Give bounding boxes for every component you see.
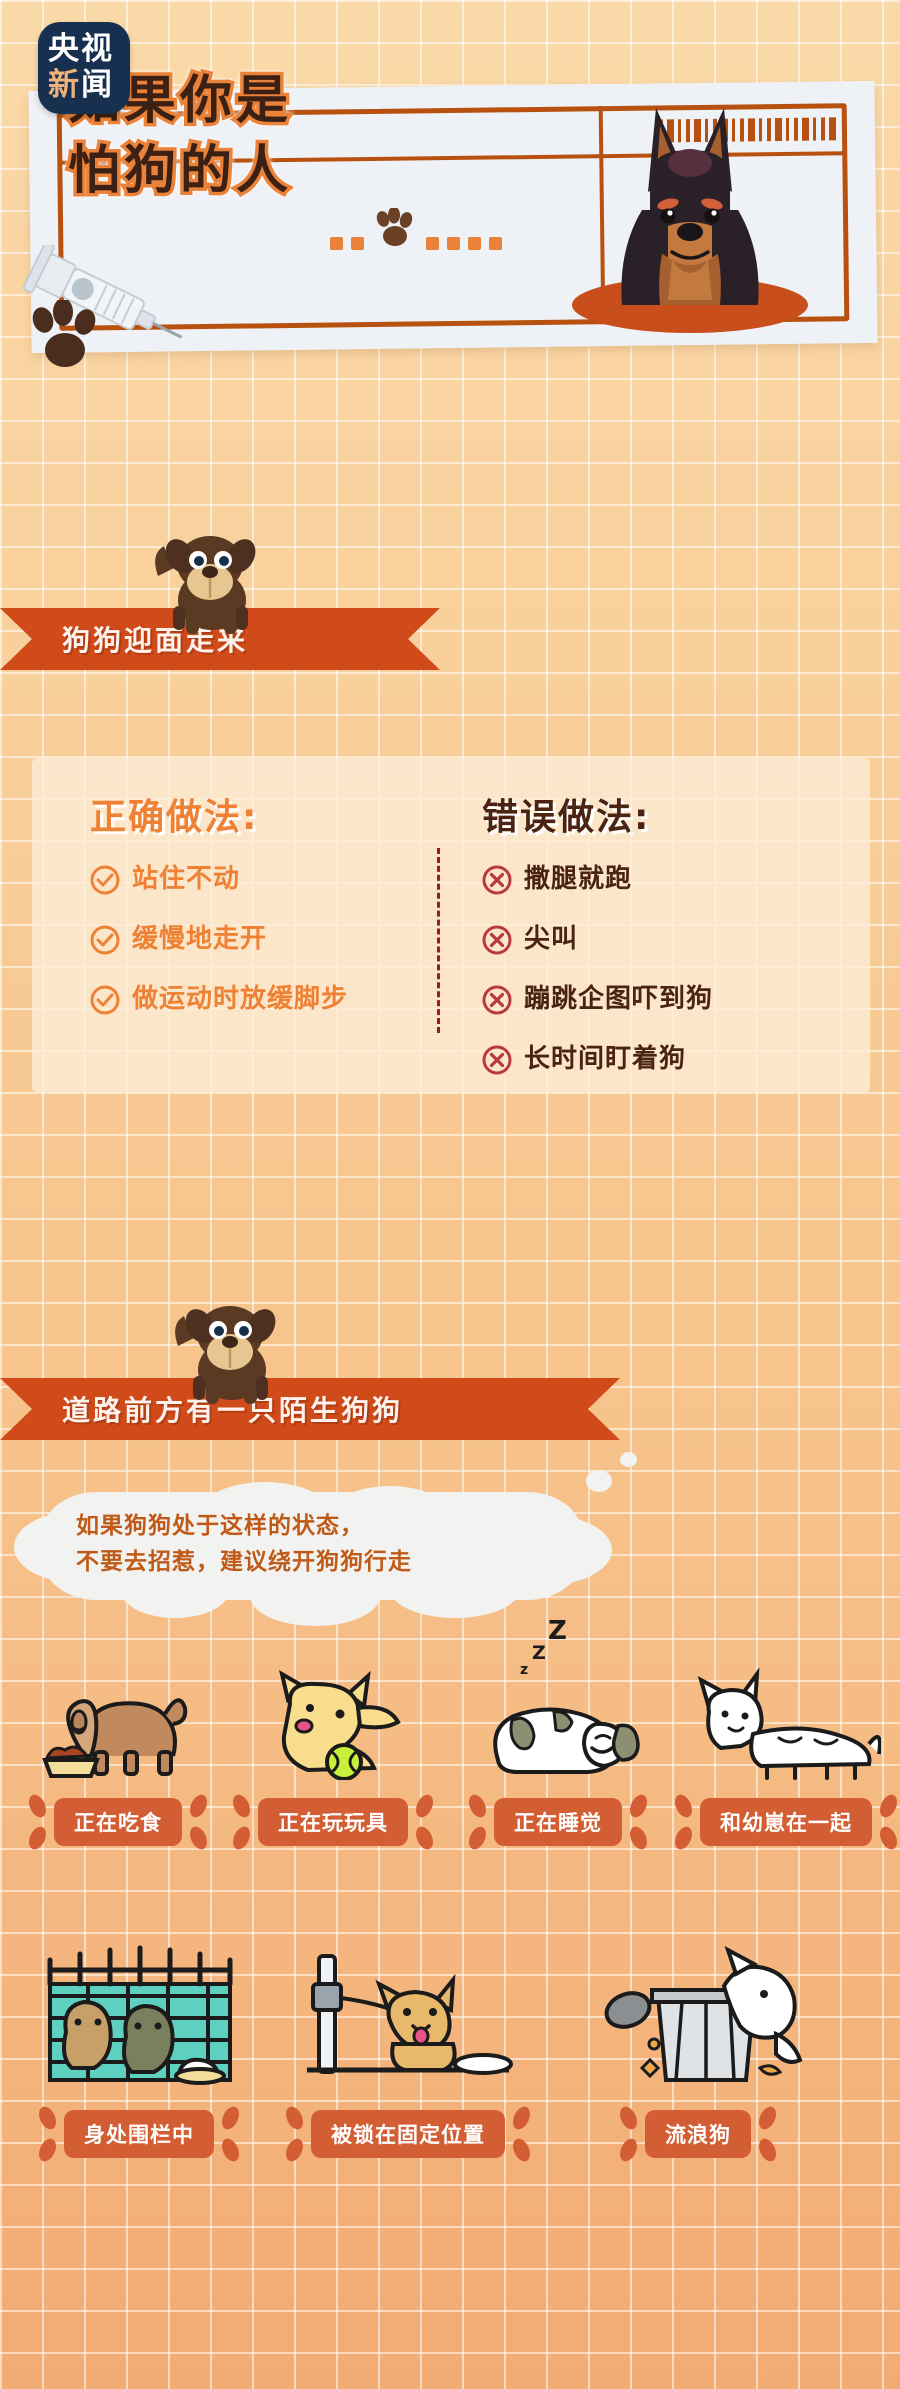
list-item: 撒腿就跑 <box>482 862 862 900</box>
bone-nub <box>617 2104 641 2132</box>
bubble-tail-dot <box>586 1470 612 1492</box>
ellipsis-dot <box>330 237 343 250</box>
ellipsis-dot <box>351 237 364 250</box>
bone-nub <box>627 1792 651 1820</box>
correct-practice-text: 做运动时放缓脚步 <box>132 982 348 1016</box>
bone-nub <box>510 2104 534 2132</box>
bone-label-wrap: 被锁在固定位置 <box>311 2110 505 2158</box>
bone-label-wrap: 正在玩玩具 <box>258 1798 408 1846</box>
bone-label-wrap: 正在吃食 <box>54 1798 182 1846</box>
advice-speech-bubble: 如果狗狗处于这样的状态， 不要去招惹，建议绕开狗狗行走 <box>42 1492 582 1600</box>
ellipsis-dot <box>447 237 460 250</box>
dog-playing-with-ball-icon <box>222 1660 444 1780</box>
list-item: 站住不动 <box>90 862 420 900</box>
title-ellipsis <box>330 208 502 250</box>
list-item: 长时间盯着狗 <box>482 1042 862 1080</box>
bone-nub <box>187 1792 211 1820</box>
state-cell-eating: 正在吃食 <box>0 1660 222 1846</box>
state-cell-chained: 被锁在固定位置 <box>258 1940 558 2158</box>
logo-char-yang: 央 <box>48 32 79 66</box>
bone-nub <box>283 2136 307 2164</box>
state-cell-with-puppies: 和幼崽在一起 <box>672 1660 900 1846</box>
dog-chained-icon <box>258 1940 558 2100</box>
bone-nub <box>36 2104 60 2132</box>
cctv-news-logo: 央 视 新 闻 <box>38 22 130 114</box>
wrong-practice-text: 撒腿就跑 <box>524 862 632 896</box>
bone-nub <box>219 2104 243 2132</box>
list-item: 缓慢地走开 <box>90 922 420 960</box>
cross-circle-icon <box>482 925 512 960</box>
state-cell-fenced: 身处围栏中 <box>0 1940 258 2158</box>
bone-nub <box>672 1792 696 1820</box>
correct-practices-column: 正确做法: 站住不动 缓慢地走开 <box>90 788 420 1020</box>
state-label-chained: 被锁在固定位置 <box>311 2110 505 2158</box>
logo-char-wen: 闻 <box>81 68 112 102</box>
page-title-line-2: 怕狗的人 <box>68 136 292 206</box>
bone-nub <box>26 1824 50 1852</box>
bone-label-wrap: 和幼崽在一起 <box>700 1798 872 1846</box>
correct-practices-title: 正确做法: <box>90 788 420 840</box>
bubble-text: 如果狗狗处于这样的状态， 不要去招惹，建议绕开狗狗行走 <box>42 1492 582 1596</box>
wrong-practice-text: 尖叫 <box>524 922 578 956</box>
bone-nub <box>219 2136 243 2164</box>
wrong-practices-column: 错误做法: 撒腿就跑 尖叫 <box>482 788 862 1080</box>
state-cell-playing: 正在玩玩具 <box>222 1660 444 1846</box>
cross-circle-icon <box>482 985 512 1020</box>
bone-nub <box>283 2104 307 2132</box>
list-item: 做运动时放缓脚步 <box>90 982 420 1020</box>
bone-nub <box>672 1824 696 1852</box>
dog-with-puppies-icon <box>672 1660 900 1780</box>
bone-nub <box>877 1824 900 1852</box>
bone-label-wrap: 正在睡觉 <box>494 1798 622 1846</box>
bone-nub <box>756 2104 780 2132</box>
check-circle-icon <box>90 985 120 1020</box>
cross-circle-icon <box>482 1045 512 1080</box>
bubble-tail-dot <box>620 1452 637 1467</box>
ellipsis-dot <box>426 237 439 250</box>
bone-nub <box>510 2136 534 2164</box>
bone-nub <box>627 1824 651 1852</box>
section2-banner-wrap: 道路前方有一只陌生狗狗 <box>0 1378 900 1440</box>
bone-nub <box>877 1792 900 1820</box>
brown-puppy-icon <box>140 520 270 640</box>
bone-nub <box>26 1792 50 1820</box>
bone-nub <box>756 2136 780 2164</box>
state-cell-stray: 流浪狗 <box>558 1940 838 2158</box>
zzz-letter: Z <box>532 1642 546 1664</box>
check-circle-icon <box>90 925 120 960</box>
stray-dog-trash-icon <box>558 1940 838 2100</box>
dog-states-row-1: 正在吃食 <box>0 1660 900 1846</box>
state-label-eating: 正在吃食 <box>54 1798 182 1846</box>
ellipsis-dot <box>468 237 481 250</box>
logo-char-xin: 新 <box>48 68 79 102</box>
advice-card: 正确做法: 站住不动 缓慢地走开 <box>32 758 870 1093</box>
paw-print-icon <box>30 300 102 370</box>
logo-line-1: 央 视 <box>48 31 120 67</box>
zzz-letter: z <box>520 1662 528 1678</box>
check-circle-icon <box>90 865 120 900</box>
section2-banner: 道路前方有一只陌生狗狗 <box>0 1378 620 1440</box>
section1-banner-wrap: 狗狗迎面走来 <box>0 608 900 670</box>
state-label-fenced: 身处围栏中 <box>64 2110 214 2158</box>
bone-label-wrap: 身处围栏中 <box>64 2110 214 2158</box>
wrong-practices-title: 错误做法: <box>482 788 862 840</box>
bone-nub <box>230 1792 254 1820</box>
wrong-practice-text: 长时间盯着狗 <box>524 1042 686 1076</box>
logo-char-shi: 视 <box>81 32 112 66</box>
state-label-stray: 流浪狗 <box>645 2110 751 2158</box>
correct-practice-text: 站住不动 <box>132 862 240 896</box>
bone-nub <box>187 1824 211 1852</box>
ellipsis-dot <box>489 237 502 250</box>
bone-nub <box>466 1824 490 1852</box>
state-cell-sleeping: Z Z z 正在睡觉 <box>444 1660 672 1846</box>
dogs-behind-fence-icon <box>20 1940 258 2100</box>
list-item: 尖叫 <box>482 922 862 960</box>
list-item: 蹦跳企图吓到狗 <box>482 982 862 1020</box>
state-label-playing: 正在玩玩具 <box>258 1798 408 1846</box>
wrong-practice-text: 蹦跳企图吓到狗 <box>524 982 713 1016</box>
correct-practice-text: 缓慢地走开 <box>132 922 267 956</box>
state-label-sleeping: 正在睡觉 <box>494 1798 622 1846</box>
dashed-vertical-divider <box>437 848 440 1033</box>
doberman-dog-illustration <box>560 100 820 335</box>
dog-states-row-2: 身处围栏中 <box>0 1940 900 2158</box>
paw-print-icon <box>374 208 416 248</box>
bone-label-wrap: 流浪狗 <box>645 2110 751 2158</box>
zzz-letter: Z <box>548 1616 567 1646</box>
cross-circle-icon <box>482 865 512 900</box>
bone-nub <box>617 2136 641 2164</box>
brown-puppy-icon <box>160 1290 290 1410</box>
bone-nub <box>413 1824 437 1852</box>
bubble-line-1: 如果狗狗处于这样的状态， <box>76 1508 548 1544</box>
logo-line-2: 新 闻 <box>48 67 120 103</box>
bone-nub <box>36 2136 60 2164</box>
state-label-with-puppies: 和幼崽在一起 <box>700 1798 872 1846</box>
dog-eating-from-bowl-icon <box>14 1660 222 1780</box>
infographic-page: 央 视 新 闻 如果你是 怕狗的人 <box>0 0 900 2389</box>
bone-nub <box>230 1824 254 1852</box>
bone-nub <box>466 1792 490 1820</box>
dog-sleeping-icon: Z Z z <box>444 1660 672 1780</box>
bubble-line-2: 不要去招惹，建议绕开狗狗行走 <box>76 1544 548 1580</box>
bone-nub <box>413 1792 437 1820</box>
